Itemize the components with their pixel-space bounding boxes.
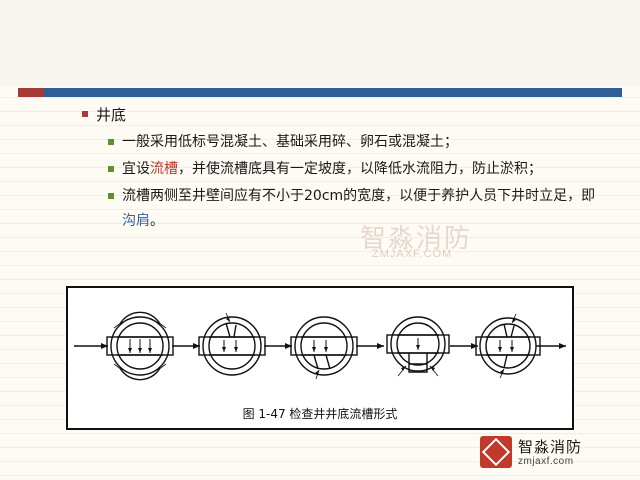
brand-title: 智淼消防 — [518, 436, 582, 457]
bullet-item-2: 宜设流槽，并使流槽底具有一定坡度，以降低水流阻力，防止淤积； — [122, 157, 600, 182]
brand-url: zmjaxf.com — [518, 456, 574, 467]
bullet-item-3: 流槽两侧至井壁间应有不小于20cm的宽度，以便于养护人员下井时立足，即沟肩。 — [122, 184, 600, 234]
square-bullet-icon — [108, 193, 114, 199]
brand-logo: 智淼消防 zmjaxf.com — [480, 434, 630, 472]
figure-inner: 图 1-47 检查井井底流槽形式 — [68, 288, 572, 428]
bullet-item-3-highlight: 沟肩 — [122, 213, 150, 229]
figure-box: 图 1-47 检查井井底流槽形式 — [66, 286, 574, 430]
square-bullet-icon — [108, 166, 114, 172]
section-heading-label: 井底 — [96, 106, 126, 124]
bullet-item-3-part-2: 。 — [150, 213, 164, 229]
bullet-item-3-part-1: 流槽两侧至井壁间应有不小于20cm的宽度，以便于养护人员下井时立足，即 — [122, 188, 595, 204]
square-bullet-icon — [82, 111, 88, 117]
bullet-item-2-highlight: 流槽 — [150, 161, 178, 177]
bullet-item-2-part-1: 宜设 — [122, 161, 150, 177]
bullet-item-1: 一般采用低标号混凝土、基础采用碎、卵石或混凝土； — [122, 130, 600, 155]
figure-caption: 图 1-47 检查井井底流槽形式 — [68, 405, 572, 422]
watermark-url: ZMJAXF.COM — [372, 248, 452, 260]
square-bullet-icon — [108, 139, 114, 145]
slide-content: 井底 一般采用低标号混凝土、基础采用碎、卵石或混凝土； 宜设流槽，并使流槽底具有… — [0, 104, 640, 236]
brand-mark-icon — [480, 436, 512, 468]
divider-bar-blue — [44, 88, 622, 97]
slide: 智淼消防 ZMJAXF.COM 井底 一般采用低标号混凝土、基础采用碎、卵石或混… — [0, 0, 640, 480]
bullet-item-2-part-2: ，并使流槽底具有一定坡度，以降低水流阻力，防止淤积； — [178, 161, 542, 177]
slide-header-band — [0, 0, 640, 86]
divider-bar-red — [18, 88, 44, 97]
bullet-item-1-label: 一般采用低标号混凝土、基础采用碎、卵石或混凝土； — [122, 134, 458, 150]
section-heading: 井底 — [96, 104, 640, 126]
